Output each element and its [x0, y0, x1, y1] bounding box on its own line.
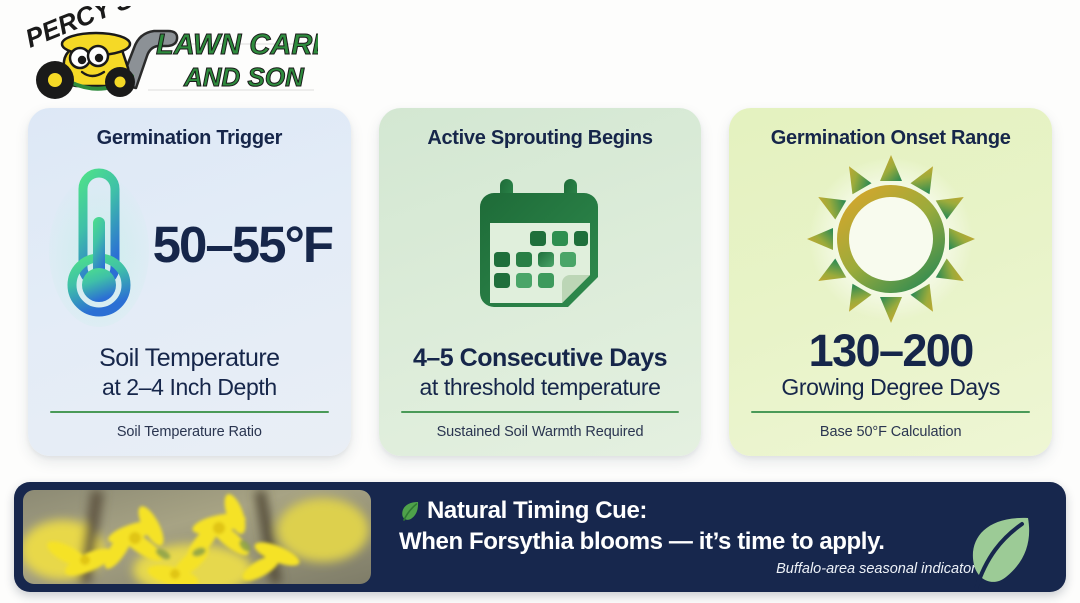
card-value-line: Soil Temperature	[28, 344, 351, 374]
mascot-pupil-right-icon	[95, 54, 103, 62]
banner-line-1-text: Natural Timing Cue:	[427, 497, 647, 525]
forsythia-blossoms-photo	[23, 490, 371, 584]
card-body: Soil Temperature at 2–4 Inch Depth Soil …	[28, 344, 351, 456]
banner-line-3-text: Buffalo-area seasonal indicator	[399, 561, 1052, 577]
card-sub-line: Growing Degree Days	[729, 374, 1052, 401]
thermometer-icon	[47, 159, 151, 329]
card-title: Germination Onset Range	[771, 127, 1011, 150]
card-title: Active Sprouting Begins	[427, 127, 652, 150]
banner-text-block: Natural Timing Cue: When Forsythia bloom…	[399, 497, 1052, 577]
card-body: 130–200 Growing Degree Days Base 50°F Ca…	[729, 328, 1052, 456]
card-sub-line: at 2–4 Inch Depth	[28, 374, 351, 401]
mascot-pupil-left-icon	[78, 56, 86, 64]
card-icon-zone: 50–55°F	[28, 150, 351, 344]
logo-word-main: LAWN CARE	[156, 29, 318, 61]
logo-word-sub: AND SON	[183, 62, 305, 92]
banner-line-1-row: Natural Timing Cue:	[399, 497, 1052, 525]
logo-artwork: PERCY'S LAWN CARE AND SON	[8, 6, 318, 102]
card-footnote: Base 50°F Calculation	[729, 413, 1052, 454]
card-value-strong: 4–5	[413, 344, 453, 372]
card-title: Germination Trigger	[97, 127, 282, 150]
leaf-icon	[399, 500, 420, 523]
card-body: 4–5 Consecutive Days at threshold temper…	[379, 344, 702, 456]
card-footnote: Soil Temperature Ratio	[28, 413, 351, 454]
card-sub-line: at threshold temperature	[379, 374, 702, 401]
seasonal-cue-banner: Natural Timing Cue: When Forsythia bloom…	[14, 482, 1066, 592]
brand-logo: PERCY'S LAWN CARE AND SON	[8, 6, 318, 102]
card-footnote: Sustained Soil Warmth Required	[379, 413, 702, 454]
card-big-value: 130–200	[729, 328, 1052, 374]
metric-cards-row: Germination Trigger	[28, 108, 1052, 456]
card-active-sprouting-begins: Active Sprouting Begins	[379, 108, 702, 456]
card-icon-zone	[729, 150, 1052, 328]
banner-line-2-text: When Forsythia blooms — it’s time to app…	[399, 528, 1052, 556]
leaf-icon	[960, 513, 1034, 592]
card-germination-trigger: Germination Trigger	[28, 108, 351, 456]
card-germination-onset-range: Germination Onset Range	[729, 108, 1052, 456]
card-value-line: 4–5 Consecutive Days	[379, 344, 702, 374]
card-icon-zone	[379, 150, 702, 344]
forsythia-photo-artwork	[23, 490, 371, 584]
card-big-value: 50–55°F	[153, 219, 332, 270]
card-value-rest: Consecutive Days	[453, 344, 667, 372]
sun-icon	[806, 154, 976, 324]
calendar-icon	[464, 171, 616, 323]
